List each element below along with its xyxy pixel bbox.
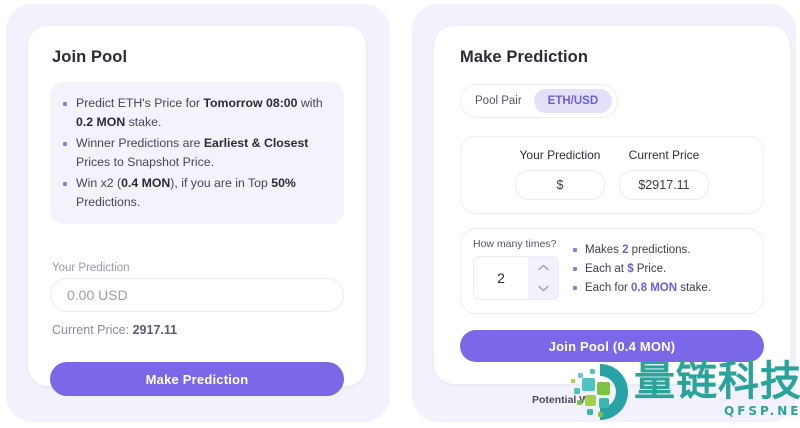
times-summary-list: Makes 2 predictions. Each at $ Price. Ea… [571, 241, 763, 298]
current-price-header: Current Price [619, 148, 709, 162]
pool-info-list: Predict ETH's Price for Tomorrow 08:00 w… [60, 94, 332, 212]
list-item: Predict ETH's Price for Tomorrow 08:00 w… [60, 94, 332, 132]
app-root: Join Pool Predict ETH's Price for Tomorr… [0, 0, 800, 428]
current-price-label: Current Price: [52, 323, 129, 337]
times-summary-area: Makes 2 predictions. Each at $ Price. Ea… [567, 229, 763, 313]
join-pool-title: Join Pool [52, 48, 127, 67]
list-item: Winner Predictions are Earliest & Closes… [60, 134, 332, 172]
join-pool-card: Join Pool Predict ETH's Price for Tomorr… [28, 26, 366, 386]
potential-winnings-text: Potential Wi [532, 394, 592, 406]
pool-pair-value-pill[interactable]: ETH/USD [534, 89, 612, 113]
your-prediction-field[interactable]: $ [515, 170, 605, 200]
pool-pair-label: Pool Pair [475, 95, 522, 107]
make-prediction-button[interactable]: Make Prediction [50, 362, 344, 396]
chevron-up-icon[interactable] [528, 257, 558, 278]
your-prediction-input[interactable]: 0.00 USD [50, 278, 344, 312]
pool-pair-selector[interactable]: Pool Pair ETH/USD [460, 84, 618, 118]
pool-info-box: Predict ETH's Price for Tomorrow 08:00 w… [50, 82, 344, 224]
chevron-down-icon[interactable] [528, 278, 558, 299]
list-item: Each at $ Price. [571, 260, 763, 279]
your-prediction-header: Your Prediction [515, 148, 605, 162]
list-item: Makes 2 predictions. [571, 241, 763, 260]
current-price-column: Current Price $2917.11 [619, 148, 709, 200]
how-many-times-box: How many times? 2 Makes 2 predictio [460, 228, 764, 314]
make-prediction-card: Make Prediction Pool Pair ETH/USD Your P… [434, 26, 790, 384]
current-price-line: Current Price: 2917.11 [52, 323, 177, 337]
your-prediction-column: Your Prediction $ [515, 148, 605, 200]
join-pool-button[interactable]: Join Pool (0.4 MON) [460, 330, 764, 362]
list-item: Each for 0.8 MON stake. [571, 279, 763, 298]
how-many-times-label: How many times? [473, 238, 567, 250]
quantity-value[interactable]: 2 [474, 257, 528, 299]
current-price-value: 2917.11 [133, 323, 178, 337]
your-prediction-label: Your Prediction [52, 262, 130, 274]
list-item: Win x2 (0.4 MON), if you are in Top 50% … [60, 174, 332, 212]
stepper-arrows [528, 257, 558, 299]
price-comparison-box: Your Prediction $ Current Price $2917.11 [460, 136, 764, 214]
make-prediction-title: Make Prediction [460, 48, 588, 67]
quantity-stepper[interactable]: 2 [473, 256, 559, 300]
current-price-field: $2917.11 [619, 170, 709, 200]
times-stepper-area: How many times? 2 [461, 229, 567, 313]
